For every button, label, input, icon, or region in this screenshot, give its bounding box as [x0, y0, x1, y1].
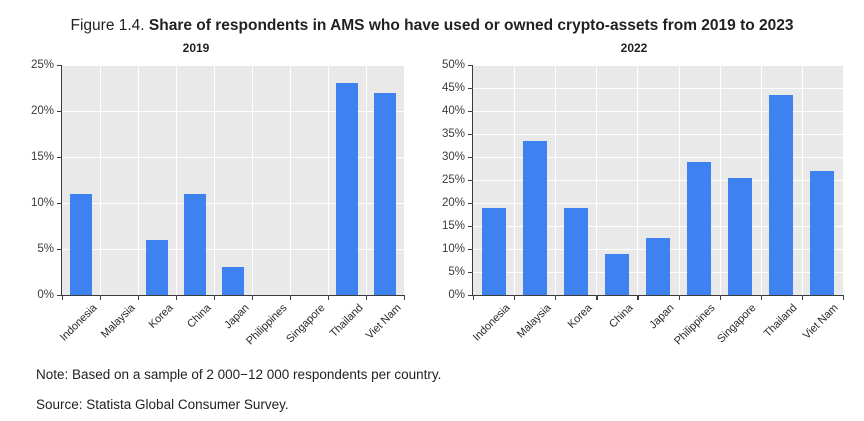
chart-frame-2019: 0%5%10%15%20%25%IndonesiaMalaysiaKoreaCh…	[62, 65, 404, 295]
x-axis-tick	[290, 295, 291, 300]
y-axis-tick	[468, 134, 473, 135]
bar	[374, 93, 396, 295]
x-axis-tick	[802, 295, 803, 300]
x-axis-tick	[720, 295, 721, 300]
y-axis-label: 20%	[31, 105, 54, 117]
bar	[564, 208, 588, 295]
y-axis-label: 5%	[37, 243, 54, 255]
x-axis-label: Philippines	[244, 302, 289, 347]
bar	[222, 267, 244, 295]
y-axis-label: 15%	[442, 220, 465, 232]
gridline	[679, 65, 680, 295]
y-axis-label: 25%	[442, 174, 465, 186]
gridline	[62, 65, 404, 66]
bar	[70, 194, 92, 295]
gridline	[802, 65, 803, 295]
y-axis-label: 25%	[31, 59, 54, 71]
x-axis-tick	[404, 295, 405, 300]
x-axis-tick	[679, 295, 680, 300]
x-axis-label: Viet Nam	[801, 302, 841, 342]
chart-subtitle-2019: 2019	[14, 40, 414, 56]
note-text: Note: Based on a sample of 2 000−12 000 …	[36, 366, 441, 384]
x-axis-label: Indonesia	[58, 302, 100, 344]
plot-area-2022	[473, 65, 843, 295]
y-axis-tick	[468, 272, 473, 273]
x-axis-tick	[214, 295, 215, 300]
gridline	[290, 65, 291, 295]
x-axis-tick	[328, 295, 329, 300]
x-axis-tick	[761, 295, 762, 300]
gridline	[328, 65, 329, 295]
x-axis-label: China	[607, 302, 635, 330]
y-axis-label: 0%	[37, 289, 54, 301]
source-text: Source: Statista Global Consumer Survey.	[36, 396, 289, 414]
chart-frame-2022: 0%5%10%15%20%25%30%35%40%45%50%Indonesia…	[473, 65, 843, 295]
y-axis-tick	[57, 157, 62, 158]
y-axis-label: 20%	[442, 197, 465, 209]
x-axis-label: Philippines	[672, 302, 717, 347]
gridline	[252, 65, 253, 295]
bar	[769, 95, 793, 295]
x-axis-label: Japan	[222, 302, 251, 331]
bar	[687, 162, 711, 295]
bar	[146, 240, 168, 295]
y-axis-tick	[57, 65, 62, 66]
gridline	[176, 65, 177, 295]
y-axis-tick	[468, 203, 473, 204]
x-axis-tick	[637, 295, 638, 300]
x-axis-tick	[514, 295, 515, 300]
chart-panel-2019: 2019 0%5%10%15%20%25%IndonesiaMalaysiaKo…	[14, 40, 414, 295]
x-axis-tick	[138, 295, 139, 300]
y-axis-tick	[468, 88, 473, 89]
y-axis-label: 10%	[442, 243, 465, 255]
y-axis-tick	[57, 111, 62, 112]
bar	[810, 171, 834, 295]
y-axis-tick	[468, 157, 473, 158]
y-axis-tick	[468, 65, 473, 66]
bar	[646, 238, 670, 296]
y-axis-label: 40%	[442, 105, 465, 117]
x-axis-tick	[366, 295, 367, 300]
y-axis-tick	[468, 249, 473, 250]
y-axis-label: 10%	[31, 197, 54, 209]
x-axis-label: Singapore	[284, 302, 327, 345]
y-axis-label: 0%	[448, 289, 465, 301]
bar	[336, 83, 358, 295]
bar	[184, 194, 206, 295]
y-axis-label: 45%	[442, 82, 465, 94]
chart-subtitle-2022: 2022	[432, 40, 850, 56]
y-axis-label: 50%	[442, 59, 465, 71]
gridline	[555, 65, 556, 295]
gridline	[514, 65, 515, 295]
x-axis-tick	[596, 295, 597, 300]
y-axis-label: 35%	[442, 128, 465, 140]
bar	[605, 254, 629, 295]
y-axis-tick	[468, 111, 473, 112]
gridline	[214, 65, 215, 295]
gridline	[637, 65, 638, 295]
y-axis-line-2019	[61, 65, 62, 295]
y-axis-tick	[468, 180, 473, 181]
figure-title-text: Share of respondents in AMS who have use…	[149, 17, 794, 34]
x-axis-label: Korea	[147, 302, 176, 331]
y-axis-tick	[57, 203, 62, 204]
page-title: Figure 1.4. Share of respondents in AMS …	[0, 16, 864, 36]
x-axis-tick	[473, 295, 474, 300]
plot-area-2019	[62, 65, 404, 295]
gridline	[100, 65, 101, 295]
x-axis-label: Singapore	[715, 302, 758, 345]
chart-panel-2022: 2022 0%5%10%15%20%25%30%35%40%45%50%Indo…	[432, 40, 850, 295]
gridline	[138, 65, 139, 295]
x-axis-label: China	[185, 302, 213, 330]
bar	[482, 208, 506, 295]
y-axis-label: 15%	[31, 151, 54, 163]
x-axis-tick	[62, 295, 63, 300]
gridline	[720, 65, 721, 295]
x-axis-tick	[100, 295, 101, 300]
y-axis-tick	[57, 249, 62, 250]
x-axis-label: Malaysia	[515, 302, 554, 341]
x-axis-label: Malaysia	[99, 302, 138, 341]
x-axis-label: Viet Nam	[364, 302, 404, 342]
bar	[523, 141, 547, 295]
x-axis-tick	[843, 295, 844, 300]
y-axis-tick	[468, 226, 473, 227]
x-axis-label: Thailand	[328, 302, 366, 340]
gridline	[473, 88, 843, 89]
y-axis-label: 30%	[442, 151, 465, 163]
x-axis-line-2019	[61, 295, 404, 296]
gridline	[761, 65, 762, 295]
gridline	[366, 65, 367, 295]
y-axis-label: 5%	[448, 266, 465, 278]
gridline	[473, 65, 843, 66]
x-axis-tick	[252, 295, 253, 300]
x-axis-label: Korea	[565, 302, 594, 331]
x-axis-label: Japan	[647, 302, 676, 331]
x-axis-label: Thailand	[762, 302, 800, 340]
bar	[728, 178, 752, 295]
figure-number: Figure 1.4.	[71, 17, 145, 34]
x-axis-tick	[176, 295, 177, 300]
gridline	[596, 65, 597, 295]
x-axis-line-2022	[472, 295, 843, 296]
x-axis-label: Indonesia	[470, 302, 512, 344]
x-axis-tick	[555, 295, 556, 300]
